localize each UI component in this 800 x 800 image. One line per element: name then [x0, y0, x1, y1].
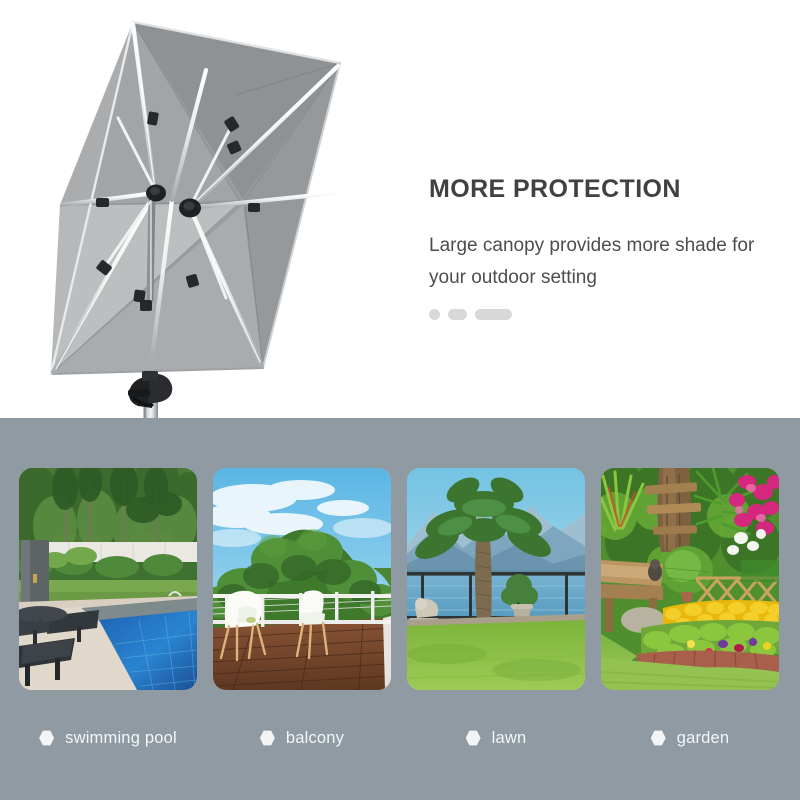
hexagon-bullet-icon	[260, 730, 275, 746]
scene-card-grid	[19, 468, 781, 690]
cantilever-umbrella-illustration	[0, 0, 400, 418]
umbrella-hub-secondary	[179, 199, 201, 218]
scene-label-text: balcony	[286, 729, 344, 748]
scene-card-garden[interactable]	[601, 468, 779, 690]
hero-section: MORE PROTECTION Large canopy provides mo…	[0, 0, 800, 418]
scene-label-garden: garden	[601, 718, 779, 758]
scene-label-text: lawn	[492, 729, 527, 748]
scene-label-swimming-pool: swimming pool	[19, 718, 197, 758]
scene-label-balcony: balcony	[213, 718, 391, 758]
product-feature-panel: MORE PROTECTION Large canopy provides mo…	[0, 0, 800, 800]
scene-label-lawn: lawn	[407, 718, 585, 758]
scene-card-lawn[interactable]	[407, 468, 585, 690]
hero-subcopy: Large canopy provides more shade for you…	[429, 230, 759, 295]
pager-pill-small-indicator[interactable]	[448, 309, 467, 320]
pager-dot-indicator[interactable]	[429, 309, 440, 320]
carousel-pager[interactable]	[429, 309, 759, 320]
umbrella-hub-primary	[146, 185, 166, 202]
usage-scenes-band: swimming pool balcony lawn garden	[0, 418, 800, 800]
page-title: MORE PROTECTION	[429, 176, 759, 204]
scene-card-swimming-pool[interactable]	[19, 468, 197, 690]
scene-label-text: swimming pool	[65, 729, 177, 748]
scene-labels-row: swimming pool balcony lawn garden	[19, 718, 781, 758]
hexagon-bullet-icon	[651, 730, 666, 746]
umbrella-tilt-hinge	[128, 371, 172, 408]
scene-card-balcony[interactable]	[213, 468, 391, 690]
hero-copy-block: MORE PROTECTION Large canopy provides mo…	[429, 176, 759, 320]
pager-pill-large-indicator[interactable]	[475, 309, 512, 320]
scene-label-text: garden	[677, 729, 730, 748]
hexagon-bullet-icon	[39, 730, 54, 746]
hexagon-bullet-icon	[466, 730, 481, 746]
